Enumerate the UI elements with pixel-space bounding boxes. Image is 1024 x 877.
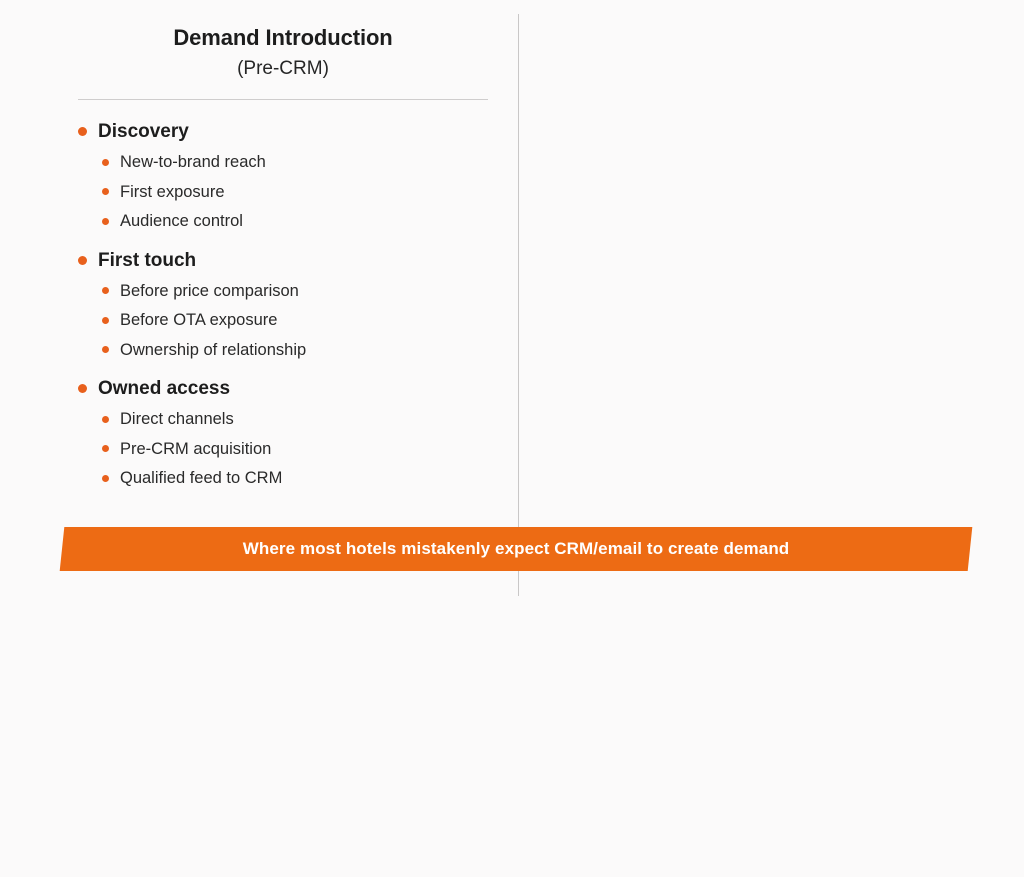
columns-container: Demand Introduction (Pre-CRM) Discovery … bbox=[0, 0, 1024, 520]
list-item: Pre-CRM acquisition bbox=[102, 441, 488, 458]
group-heading: Owned access bbox=[78, 379, 488, 398]
list-item: Qualified feed to CRM bbox=[102, 470, 488, 487]
bullet-icon bbox=[78, 256, 87, 265]
list-item: Direct channels bbox=[102, 411, 488, 428]
list-item: Before price comparison bbox=[102, 283, 488, 300]
list-item: Ownership of relationship bbox=[102, 342, 488, 359]
group-label: Discovery bbox=[98, 122, 189, 141]
list-item-label: Before price comparison bbox=[120, 283, 299, 300]
list-item-label: First exposure bbox=[120, 184, 225, 201]
list-item: New-to-brand reach bbox=[102, 154, 488, 171]
group-heading: Discovery bbox=[78, 122, 488, 141]
bullet-icon bbox=[102, 317, 109, 324]
bullet-icon bbox=[102, 416, 109, 423]
list-item: Before OTA exposure bbox=[102, 312, 488, 329]
group-label: First touch bbox=[98, 251, 196, 270]
bullet-icon bbox=[102, 346, 109, 353]
bullet-icon bbox=[102, 445, 109, 452]
list-item-label: Qualified feed to CRM bbox=[120, 470, 282, 487]
list-item-label: Audience control bbox=[120, 213, 243, 230]
group: Owned access Direct channels Pre-CRM acq… bbox=[78, 379, 488, 487]
bullet-icon bbox=[78, 384, 87, 393]
list-item-label: Pre-CRM acquisition bbox=[120, 441, 271, 458]
list-item-label: Before OTA exposure bbox=[120, 312, 277, 329]
header-rule bbox=[78, 99, 488, 100]
bullet-icon bbox=[102, 159, 109, 166]
list-item: Audience control bbox=[102, 213, 488, 230]
list-item-label: Ownership of relationship bbox=[120, 342, 306, 359]
banner-label: Where most hotels mistakenly expect CRM/… bbox=[62, 527, 970, 571]
diagram-canvas: Demand Introduction (Pre-CRM) Discovery … bbox=[0, 0, 1024, 610]
column-header: Lifecycle Conversion (Post-CRM) bbox=[512, 0, 1024, 119]
list-item-label: Direct channels bbox=[120, 411, 234, 428]
bullet-icon bbox=[102, 475, 109, 482]
footer-banner: Where most hotels mistakenly expect CRM/… bbox=[0, 527, 1024, 575]
group-label: Owned access bbox=[98, 379, 230, 398]
bullet-icon bbox=[102, 287, 109, 294]
list-item-label: New-to-brand reach bbox=[120, 154, 266, 171]
group-heading: First touch bbox=[78, 251, 488, 270]
column-header: Demand Introduction (Pre-CRM) bbox=[0, 0, 488, 78]
list-item: First exposure bbox=[102, 184, 488, 201]
column-demand-introduction: Demand Introduction (Pre-CRM) Discovery … bbox=[0, 0, 512, 520]
bullet-icon bbox=[78, 127, 87, 136]
group: Discovery New-to-brand reach First expos… bbox=[78, 122, 488, 230]
group: First touch Before price comparison Befo… bbox=[78, 251, 488, 359]
column-lifecycle-conversion: Lifecycle Conversion (Post-CRM) CRM Know… bbox=[512, 0, 1024, 520]
bullet-icon bbox=[102, 188, 109, 195]
groups-list: Discovery New-to-brand reach First expos… bbox=[78, 122, 488, 487]
bullet-icon bbox=[102, 218, 109, 225]
column-subtitle: (Pre-CRM) bbox=[78, 59, 488, 78]
column-title: Demand Introduction bbox=[78, 27, 488, 49]
